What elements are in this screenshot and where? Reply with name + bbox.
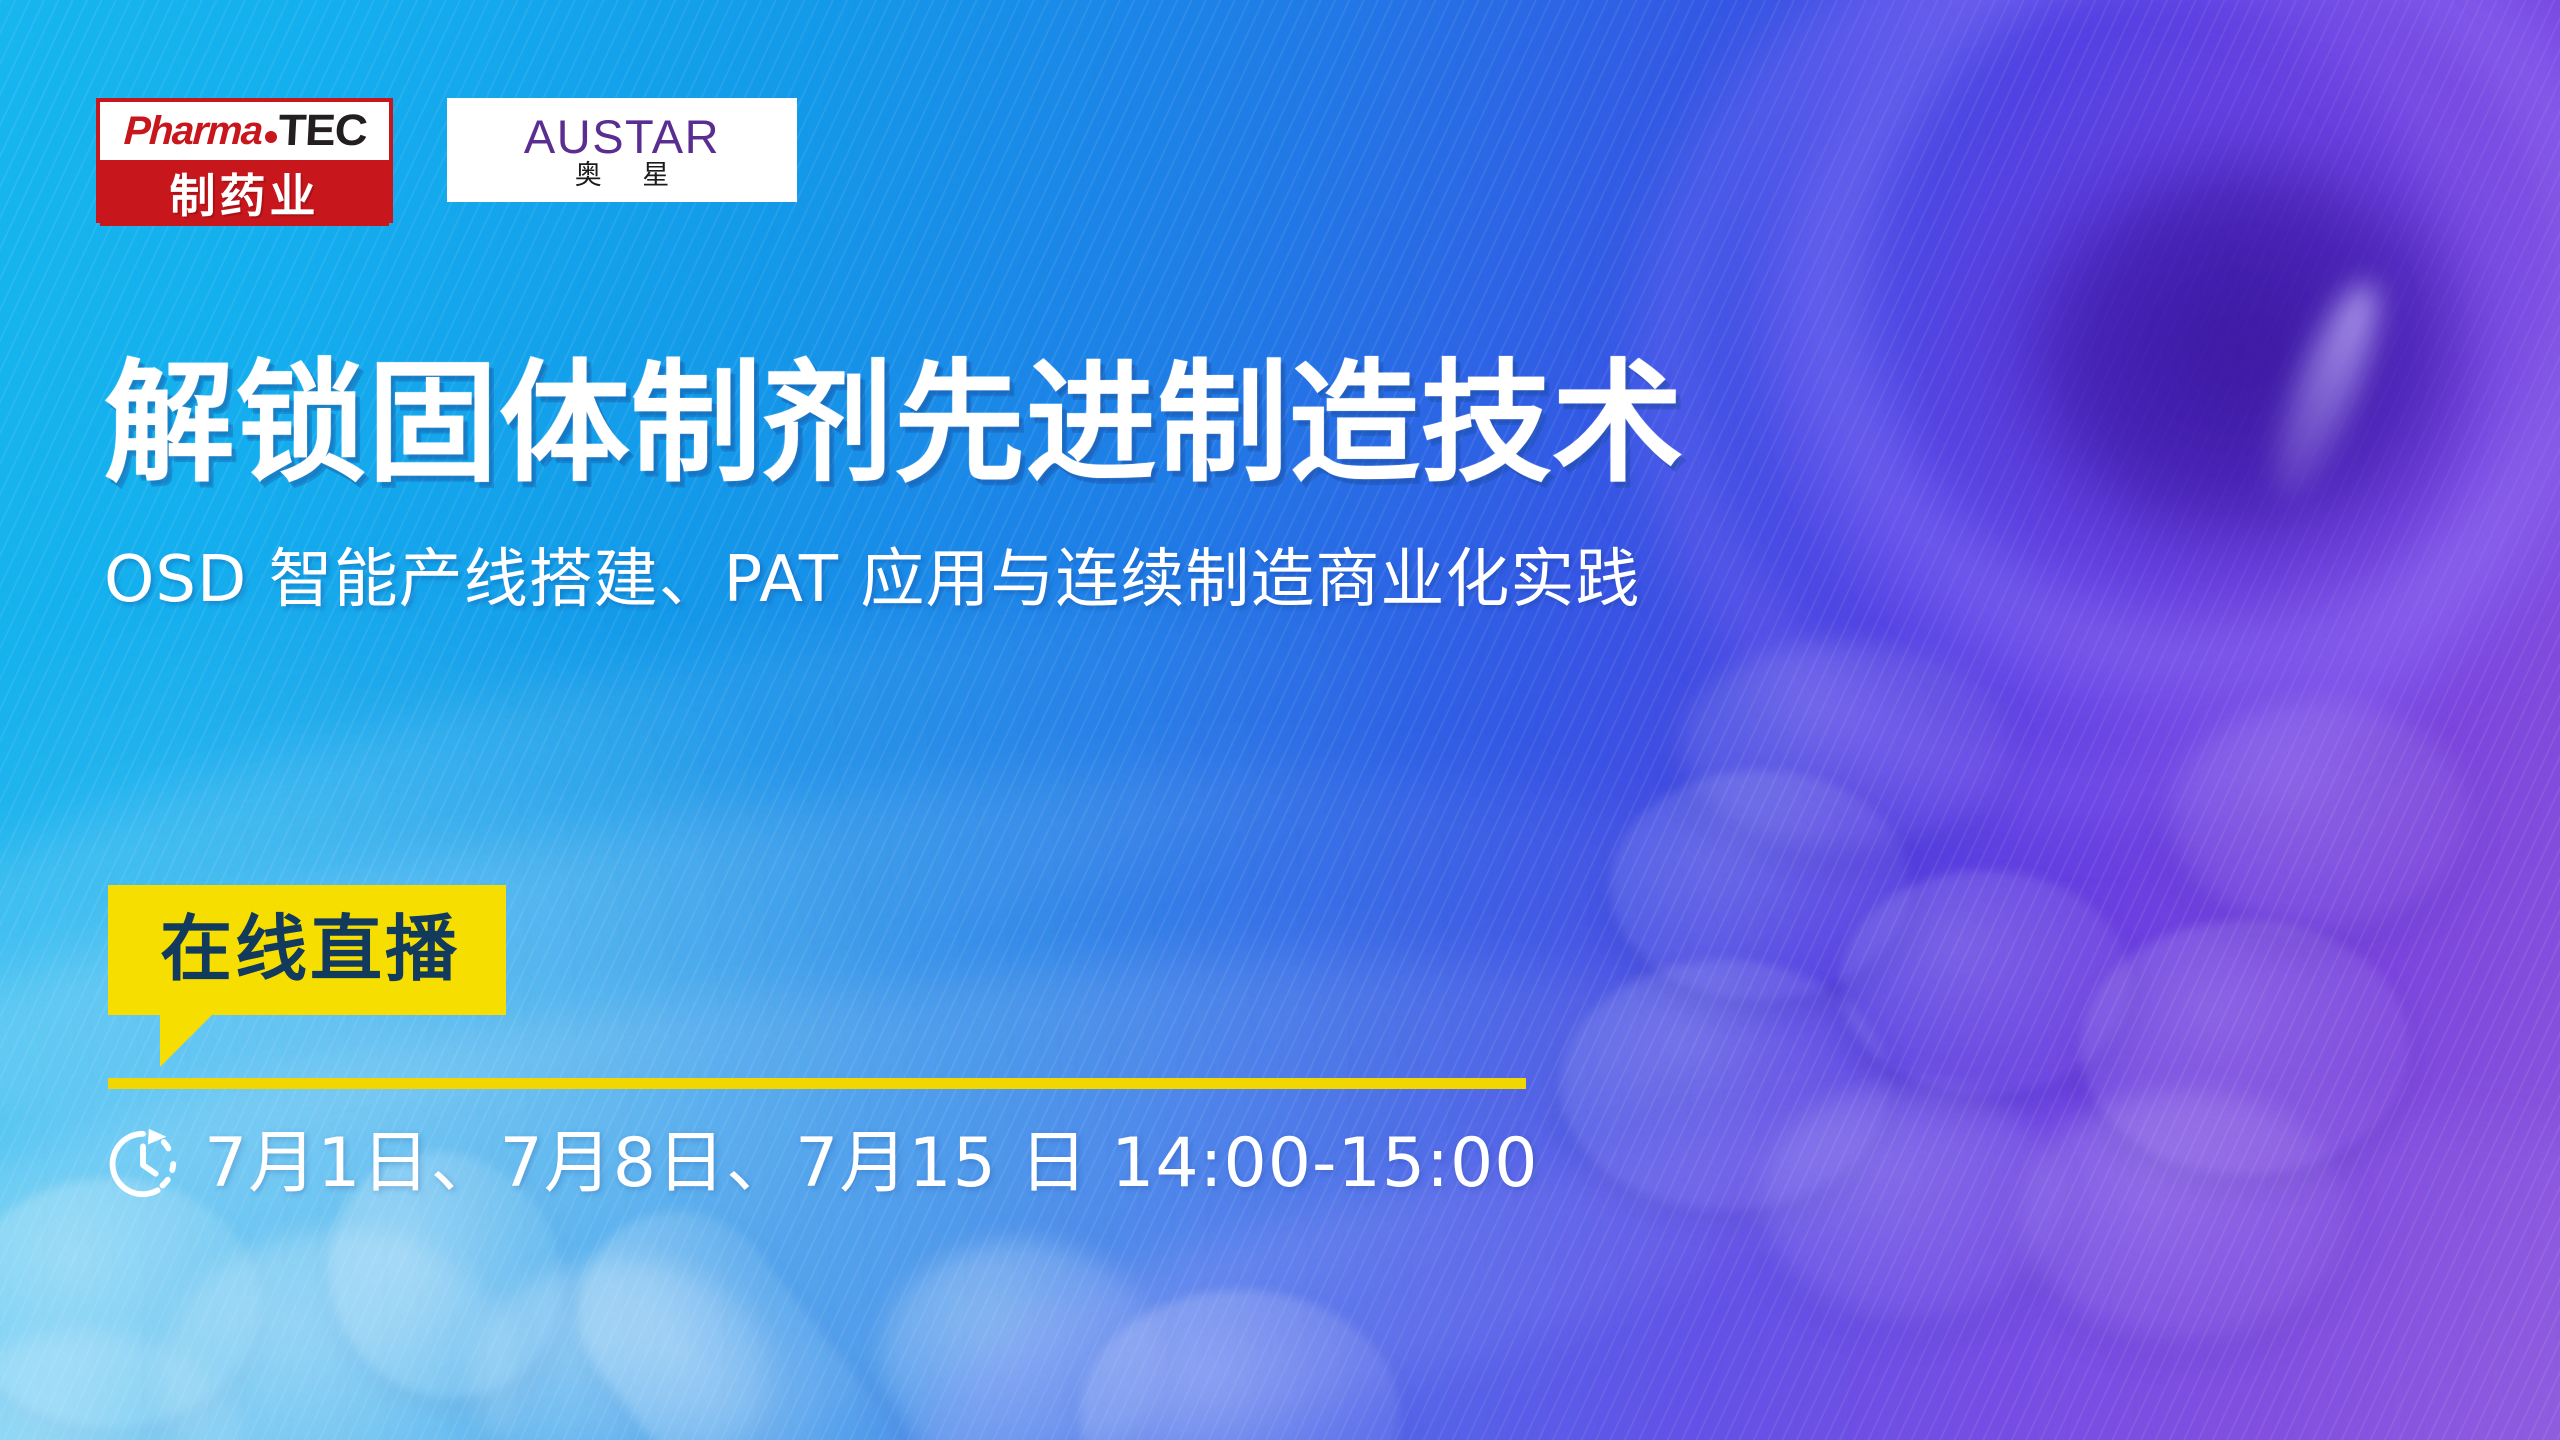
tablet-shape (1840, 870, 2130, 1095)
schedule-text: 7月1日、7月8日、7月15 日 14:00-15:00 (204, 1130, 1539, 1198)
pharmatec-dot-icon (265, 131, 277, 143)
pill-bottle-rim (1642, 0, 2540, 818)
capsule-shape (538, 1171, 942, 1440)
tablet-shape (1610, 770, 1910, 1000)
tablet-shape (1080, 1290, 1400, 1440)
live-badge-tail (160, 1015, 212, 1067)
pharmatec-word-primary: Pharma (123, 111, 263, 151)
tablet-shape (1680, 640, 2010, 850)
page-subtitle: OSD 智能产线搭建、PAT 应用与连续制造商业化实践 (104, 548, 1640, 612)
tablet-shape (160, 1230, 520, 1440)
austar-chinese-name: 奥 星 (559, 162, 686, 189)
tablet-shape (0, 1178, 260, 1428)
tablet-shape (2080, 920, 2410, 1175)
logo-row: Pharma TEC 制药业 AUSTAR 奥 星 (96, 98, 797, 223)
pharmatec-wordmark: Pharma TEC (100, 102, 389, 160)
clock-icon (104, 1125, 182, 1203)
schedule-row: 7月1日、7月8日、7月15 日 14:00-15:00 (104, 1125, 1539, 1203)
tablet-shape (2170, 700, 2470, 930)
tablet-shape (1760, 1080, 2060, 1320)
live-badge-label: 在线直播 (108, 885, 506, 1015)
austar-logo[interactable]: AUSTAR 奥 星 (447, 98, 797, 202)
webinar-promo-banner: Pharma TEC 制药业 AUSTAR 奥 星 解锁固体制剂先进制造技术 O… (0, 0, 2560, 1440)
pill-bottle-graphic (1580, 0, 2560, 903)
page-title: 解锁固体制剂先进制造技术 (104, 358, 1684, 490)
tablet-shape (0, 1330, 250, 1440)
tablet-shape (880, 1240, 1160, 1440)
tablet-shape (2020, 1090, 2350, 1340)
yellow-divider (108, 1078, 1526, 1089)
pharmatec-chinese-name: 制药业 (100, 160, 389, 226)
tablet-shape (470, 1260, 770, 1440)
austar-wordmark: AUSTAR (524, 113, 720, 160)
tablet-shape (1560, 960, 1890, 1210)
live-badge: 在线直播 (108, 885, 506, 1067)
pharmatec-word-secondary: TEC (277, 109, 368, 153)
bottle-highlight (2256, 273, 2396, 508)
pharmatec-logo[interactable]: Pharma TEC 制药业 (96, 98, 393, 223)
